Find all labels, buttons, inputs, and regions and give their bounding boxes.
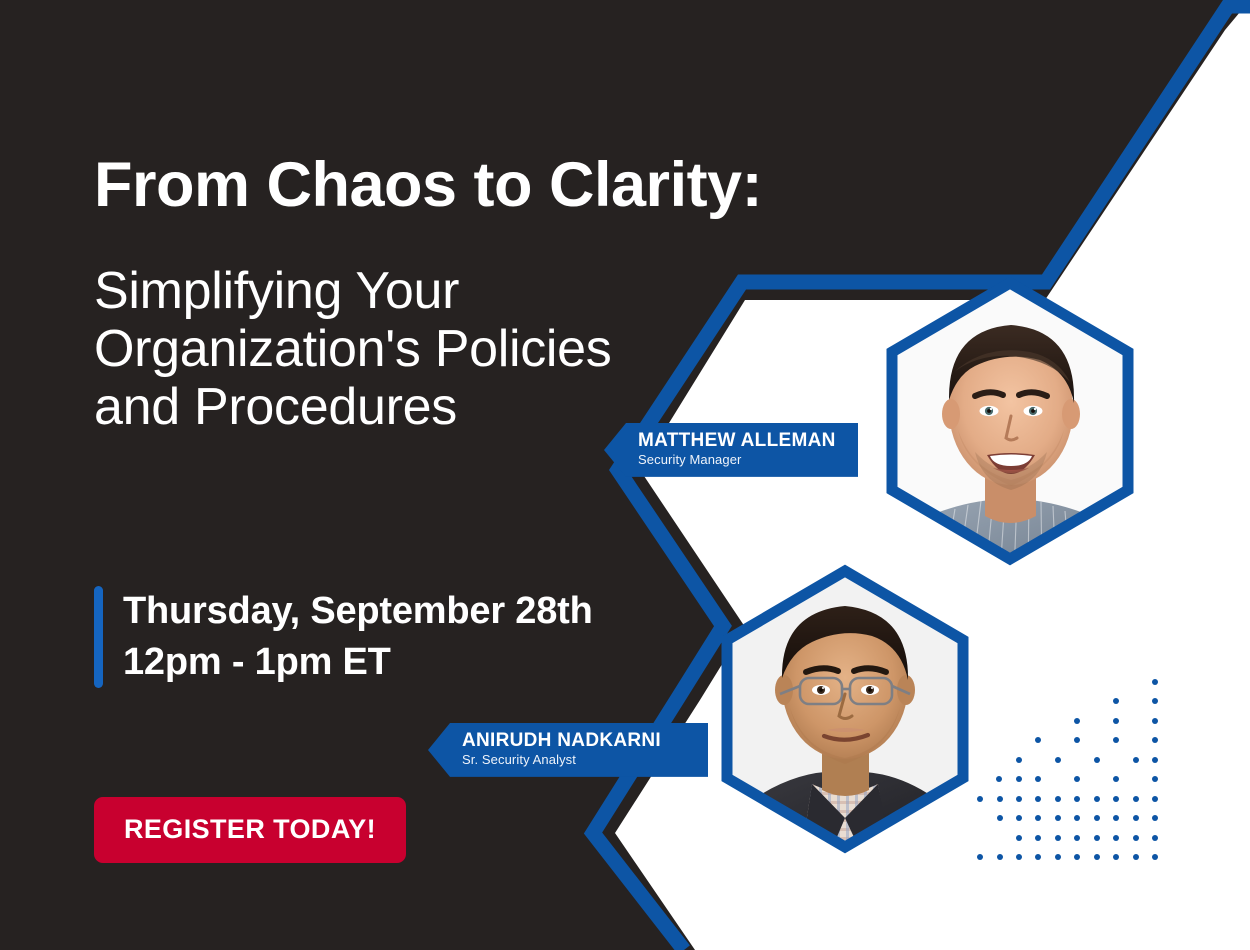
page-title: From Chaos to Clarity:: [94, 152, 1024, 219]
event-date: Thursday, September 28th: [123, 586, 593, 637]
speaker-1-role: Security Manager: [638, 452, 844, 469]
accent-bar: [94, 586, 103, 688]
register-button[interactable]: REGISTER TODAY!: [94, 797, 406, 863]
webinar-promo-graphic: From Chaos to Clarity: Simplifying Your …: [0, 0, 1250, 950]
speaker-1-name-banner: MATTHEW ALLEMAN Security Manager: [604, 423, 858, 477]
event-datetime: Thursday, September 28th 12pm - 1pm ET: [94, 586, 593, 688]
speaker-2-name-banner: ANIRUDH NADKARNI Sr. Security Analyst: [428, 723, 708, 777]
event-time: 12pm - 1pm ET: [123, 637, 593, 688]
page-subtitle: Simplifying Your Organization's Policies…: [94, 262, 634, 437]
speaker-2-name: ANIRUDH NADKARNI: [462, 730, 694, 752]
speaker-2-role: Sr. Security Analyst: [462, 752, 694, 769]
speaker-1-name: MATTHEW ALLEMAN: [638, 430, 844, 452]
